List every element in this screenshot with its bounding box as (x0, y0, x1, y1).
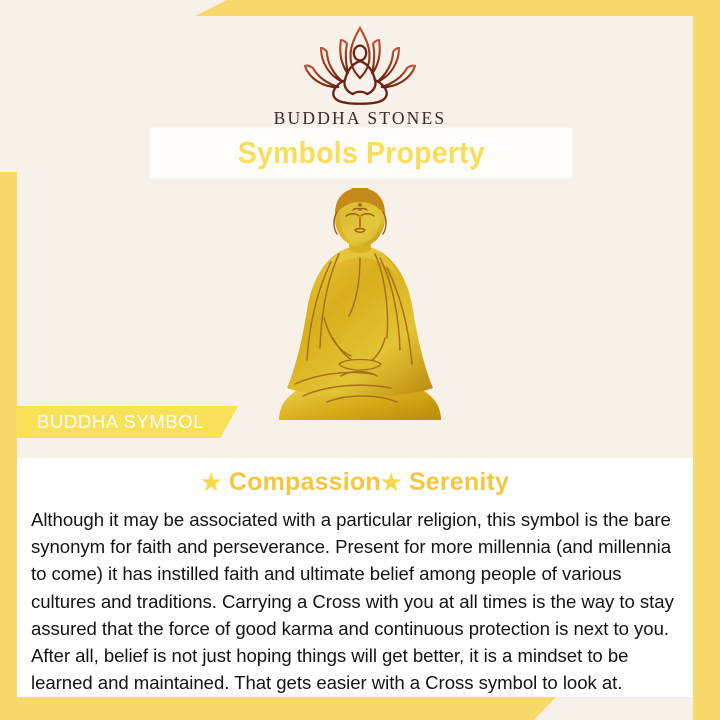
title-banner: Symbols Property (150, 128, 572, 178)
brand-wordmark: BUDDHA STONES (0, 108, 720, 129)
content-card: ★ Compassion★ Serenity Although it may b… (17, 458, 693, 697)
headline-keyword-serenity: Serenity (409, 468, 509, 496)
buddha-illustration-wrap (0, 178, 720, 423)
star-icon-left: ★ (201, 469, 222, 495)
star-icon-right: ★ (381, 469, 402, 495)
headline: ★ Compassion★ Serenity (17, 468, 693, 497)
frame-top-bar (195, 0, 720, 16)
body-paragraph: Although it may be associated with a par… (31, 506, 679, 696)
seated-buddha-illustration (267, 188, 453, 423)
lotus-meditation-icon (0, 22, 720, 106)
poster-root: BUDDHA STONES Symbols Property (0, 0, 720, 720)
frame-bottom-bar (0, 697, 556, 720)
headline-keyword-compassion: Compassion (229, 468, 381, 496)
brand-logo: BUDDHA STONES (0, 22, 720, 129)
page-title: Symbols Property (237, 135, 484, 171)
ribbon-label: BUDDHA SYMBOL (37, 411, 204, 433)
buddha-symbol-ribbon: BUDDHA SYMBOL (17, 406, 238, 438)
